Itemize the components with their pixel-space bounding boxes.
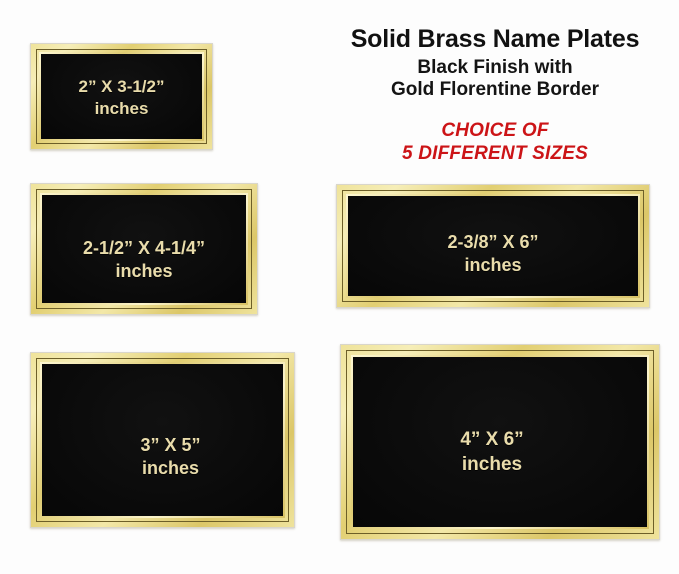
plate-size-label: 3” X 5” <box>140 435 200 455</box>
plate-black-face: 2-1/2” X 4-1/4” inches <box>42 195 246 303</box>
product-image-canvas: Solid Brass Name Plates Black Finish wit… <box>0 0 679 574</box>
plate-caption: 2-1/2” X 4-1/4” inches <box>42 237 246 284</box>
plate-size-label: 4” X 6” <box>460 429 523 450</box>
plate-caption: 2” X 3-1/2” inches <box>41 76 202 120</box>
page-title: Solid Brass Name Plates <box>330 26 660 53</box>
name-plate-sample[interactable]: 2-3/8” X 6” inches <box>336 184 650 308</box>
plate-caption: 3” X 5” inches <box>50 434 283 481</box>
name-plate-sample[interactable]: 2” X 3-1/2” inches <box>30 43 213 150</box>
plate-size-label: 2” X 3-1/2” <box>79 77 165 96</box>
plate-black-face: 3” X 5” inches <box>42 364 283 516</box>
subtitle-line-2: Gold Florentine Border <box>330 79 660 101</box>
name-plate-sample[interactable]: 3” X 5” inches <box>30 352 295 528</box>
promo-callout: CHOICE OF 5 DIFFERENT SIZES <box>330 119 660 166</box>
plate-units-label: inches <box>348 254 638 277</box>
plate-units-label: inches <box>42 260 246 283</box>
subtitle-line-1: Black Finish with <box>330 57 660 79</box>
promo-line-2: 5 DIFFERENT SIZES <box>402 143 588 164</box>
plate-size-label: 2-1/2” X 4-1/4” <box>83 238 205 258</box>
plate-units-label: inches <box>41 98 202 120</box>
plate-black-face: 2” X 3-1/2” inches <box>41 54 202 139</box>
header-text-block: Solid Brass Name Plates Black Finish wit… <box>330 26 660 166</box>
promo-line-1: CHOICE OF <box>441 120 548 141</box>
plate-size-label: 2-3/8” X 6” <box>447 232 538 252</box>
plate-caption: 4” X 6” inches <box>353 428 639 477</box>
plate-units-label: inches <box>50 457 283 480</box>
plate-units-label: inches <box>353 453 639 478</box>
plate-black-face: 4” X 6” inches <box>353 357 647 527</box>
plate-black-face: 2-3/8” X 6” inches <box>348 196 638 296</box>
name-plate-sample[interactable]: 4” X 6” inches <box>340 344 660 540</box>
name-plate-sample[interactable]: 2-1/2” X 4-1/4” inches <box>30 183 258 315</box>
plate-caption: 2-3/8” X 6” inches <box>348 231 638 278</box>
